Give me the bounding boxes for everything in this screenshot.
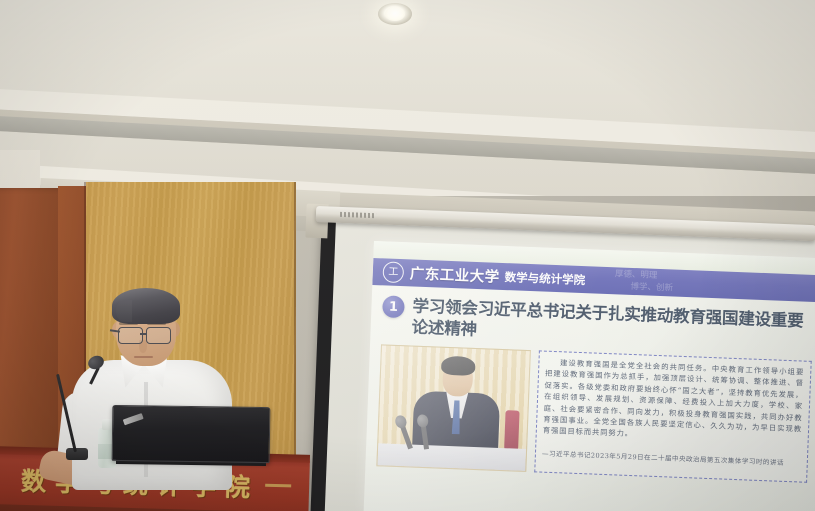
eyeglasses-icon xyxy=(146,327,171,344)
ceiling-downlight-icon xyxy=(378,3,412,25)
slide-quote-attribution: —习近平总书记2023年5月29日在二十届中央政治局第五次集体学习时的讲话 xyxy=(542,448,801,468)
presentation-slide: 工 广东工业大学 数学与统计学院 厚德、明理 博学、创新 1 学习领会习近平总书… xyxy=(364,241,815,511)
slide-quote-box: 建设教育强国是全党全社会的共同任务。中央教育工作领导小组要把建设教育强国作为总抓… xyxy=(534,350,811,482)
microphone-base xyxy=(66,448,88,460)
university-logo-icon: 工 xyxy=(382,261,404,283)
laptop-brand-icon xyxy=(123,413,144,425)
slide-photo xyxy=(376,344,531,472)
eyeglasses-bridge xyxy=(140,333,147,335)
eyeglasses-icon xyxy=(118,327,143,344)
housing-brand-icon xyxy=(340,212,376,218)
lecture-hall-scene: 工 广东工业大学 数学与统计学院 厚德、明理 博学、创新 1 学习领会习近平总书… xyxy=(0,0,815,511)
university-logo-glyph: 工 xyxy=(388,267,398,277)
college-name: 数学与统计学院 xyxy=(504,269,585,288)
laptop xyxy=(112,405,271,463)
university-name: 广东工业大学 xyxy=(409,262,500,286)
photo-projector-wash xyxy=(377,345,529,471)
slide-body: 建设教育强国是全党全社会的共同任务。中央教育工作领导小组要把建设教育强国作为总抓… xyxy=(365,336,815,483)
speaker-hair xyxy=(112,288,180,324)
slide-quote-text: 建设教育强国是全党全社会的共同任务。中央教育工作领导小组要把建设教育强国作为总抓… xyxy=(543,357,805,447)
university-motto: 厚德、明理 博学、创新 xyxy=(614,268,673,294)
motto-line-2: 博学、创新 xyxy=(630,281,673,295)
motto-line-1: 厚德、明理 xyxy=(615,269,658,281)
slide-section-number-badge: 1 xyxy=(382,295,405,318)
